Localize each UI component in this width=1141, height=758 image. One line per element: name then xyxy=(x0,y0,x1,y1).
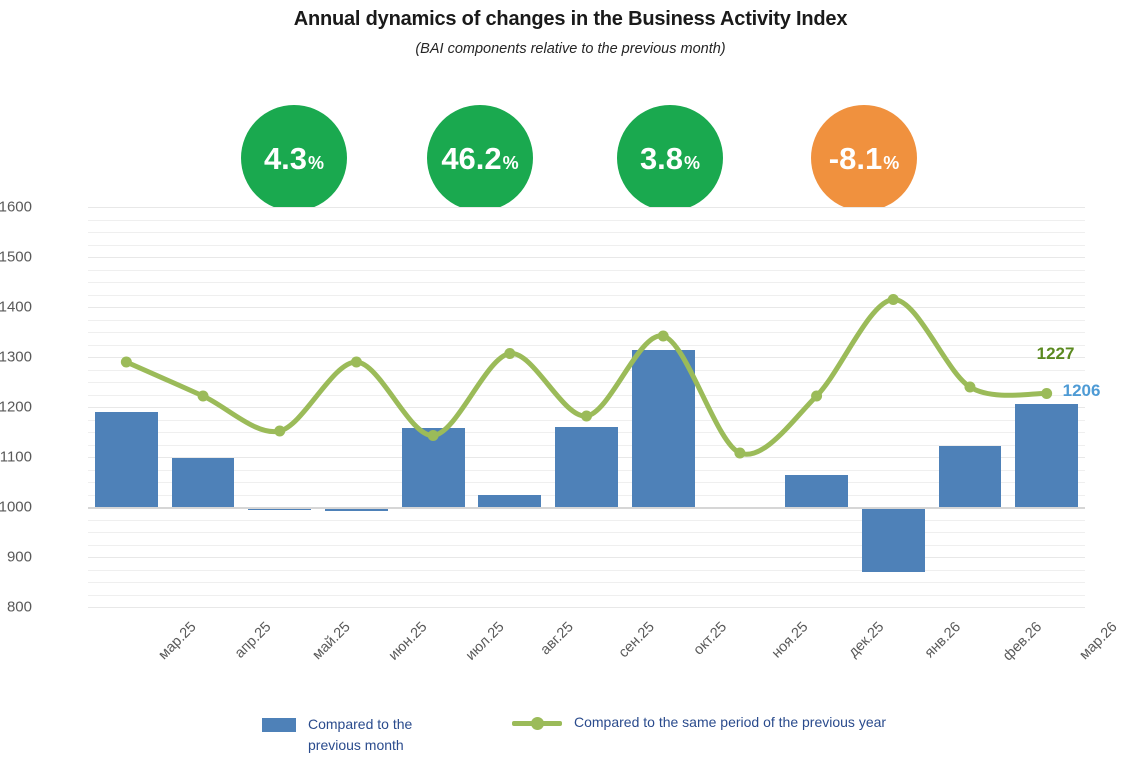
line-marker xyxy=(351,357,362,368)
gridline-major xyxy=(88,607,1085,608)
y-axis-tick: 1100 xyxy=(0,449,32,466)
line-marker xyxy=(581,411,592,422)
line-marker xyxy=(964,382,975,393)
x-axis-tick: май.25 xyxy=(309,619,353,663)
line-marker xyxy=(811,391,822,402)
legend-line-marker-icon xyxy=(512,713,562,733)
y-axis-tick: 1300 xyxy=(0,349,32,366)
line-marker xyxy=(504,348,515,359)
y-axis-tick: 1600 xyxy=(0,199,32,216)
kpi-circle-2: 46.2% xyxy=(427,105,533,211)
y-axis-tick: 900 xyxy=(0,549,32,566)
line-marker xyxy=(428,430,439,441)
x-axis-tick: янв.26 xyxy=(922,619,964,661)
line-series xyxy=(88,207,1085,607)
y-axis-tick: 1400 xyxy=(0,299,32,316)
x-axis-tick: дек.25 xyxy=(845,619,887,661)
legend-label-line: Compared to the same period of the previ… xyxy=(574,712,924,733)
x-axis-tick: мар.26 xyxy=(1076,619,1120,663)
x-axis-tick: июл.25 xyxy=(463,619,508,664)
x-axis-tick: ноя.25 xyxy=(769,619,811,661)
kpi-value: 3.8% xyxy=(640,143,700,174)
y-axis-tick: 1000 xyxy=(0,499,32,516)
bar-end-label: 1206 xyxy=(1063,381,1101,401)
legend-swatch-icon xyxy=(262,718,296,732)
kpi-circle-1: 4.3% xyxy=(241,105,347,211)
line-path xyxy=(126,299,1046,454)
line-marker xyxy=(121,357,132,368)
line-marker xyxy=(198,391,209,402)
line-end-label: 1227 xyxy=(1037,344,1075,364)
kpi-unit: % xyxy=(308,154,324,172)
page-subtitle: (BAI components relative to the previous… xyxy=(0,41,1141,57)
line-marker xyxy=(274,426,285,437)
x-axis-tick: мар.25 xyxy=(156,619,200,663)
chart-plot-area: 1600150014001300120011001000900800 12271… xyxy=(88,207,1085,607)
x-axis-tick: окт.25 xyxy=(691,619,730,658)
x-axis-tick: июн.25 xyxy=(386,619,431,664)
chart-page: Annual dynamics of changes in the Busine… xyxy=(0,0,1141,757)
x-axis-tick: авг.25 xyxy=(537,619,576,658)
kpi-unit: % xyxy=(883,154,899,172)
kpi-unit: % xyxy=(684,154,700,172)
y-axis-tick: 1500 xyxy=(0,249,32,266)
x-axis-tick: апр.25 xyxy=(232,619,275,662)
kpi-value: -8.1% xyxy=(829,143,899,174)
kpi-circle-3: 3.8% xyxy=(617,105,723,211)
x-axis-tick: фев.26 xyxy=(1000,619,1045,664)
line-marker xyxy=(888,294,899,305)
legend-label-bar: Compared to the previous month xyxy=(308,714,458,756)
legend-item-line-series[interactable]: Compared to the same period of the previ… xyxy=(512,712,924,733)
kpi-unit: % xyxy=(503,154,519,172)
kpi-value: 46.2% xyxy=(441,143,518,174)
y-axis-tick: 1200 xyxy=(0,399,32,416)
kpi-circle-4: -8.1% xyxy=(811,105,917,211)
line-marker xyxy=(734,448,745,459)
legend-item-bar-series[interactable]: Compared to the previous month xyxy=(262,714,458,756)
line-marker xyxy=(1041,388,1052,399)
line-marker xyxy=(658,331,669,342)
kpi-value: 4.3% xyxy=(264,143,324,174)
chart-legend: Compared to the previous month Compared … xyxy=(0,706,1141,758)
y-axis-tick: 800 xyxy=(0,599,32,616)
x-axis-tick: сен.25 xyxy=(615,619,657,661)
page-title: Annual dynamics of changes in the Busine… xyxy=(0,8,1141,31)
